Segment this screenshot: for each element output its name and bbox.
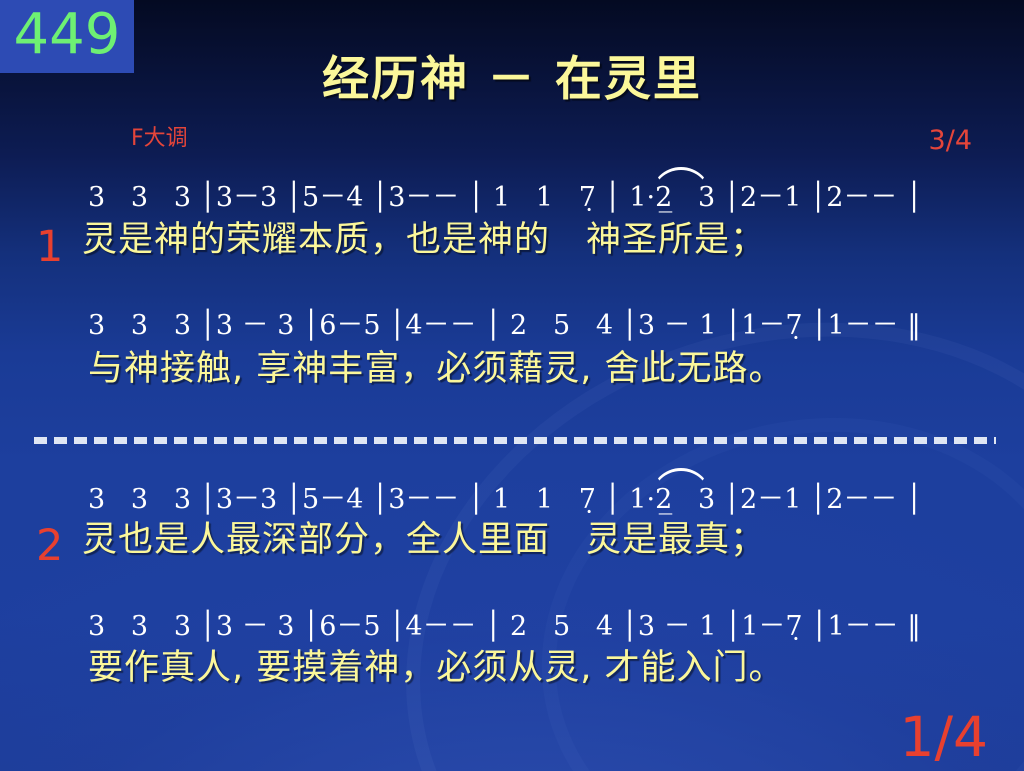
stanza-2-line-2-notation: 3 3 3 │3 － 3 │6－5 │4－－ │ 2 5 4 │3 － 1 │1… <box>88 613 921 640</box>
stanza-divider <box>34 437 996 444</box>
hymn-slide: 449 经历神 － 在灵里 F大调 3/4 1 3 3 3 │3－3 │5－4 … <box>0 0 1024 771</box>
slur-arc-icon <box>651 167 711 196</box>
page-title: 经历神 － 在灵里 <box>0 56 1024 103</box>
slur-arc-icon <box>651 468 711 497</box>
stanza-1-line-1-notation: 3 3 3 │3－3 │5－4 │3－－ │ 1 1 7̣ │ 1·2̲ 3 │… <box>88 184 922 211</box>
stanza-2-line-2-lyrics: 要作真人, 要摸着神，必须从灵, 才能入门。 <box>88 651 785 686</box>
music-key-label: F大调 <box>131 128 188 150</box>
stanza-1-line-1-lyrics: 灵是神的荣耀本质，也是神的 神圣所是； <box>82 223 766 258</box>
stanza-1-line-2-lyrics: 与神接触, 享神丰富，必须藉灵, 舍此无路。 <box>88 352 785 387</box>
stanza-2-number: 2 <box>36 525 63 568</box>
stanza-1-number: 1 <box>36 226 63 269</box>
stanza-2-line-1-lyrics: 灵也是人最深部分，全人里面 灵是最真； <box>82 523 766 558</box>
stanza-2-line-1-notation: 3 3 3 │3－3 │5－4 │3－－ │ 1 1 7̣ │ 1·2̲ 3 │… <box>88 486 922 513</box>
time-signature-label: 3/4 <box>929 127 972 154</box>
page-indicator: 1/4 <box>899 710 988 765</box>
stanza-1-line-2-notation: 3 3 3 │3 － 3 │6－5 │4－－ │ 2 5 4 │3 － 1 │1… <box>88 312 921 339</box>
